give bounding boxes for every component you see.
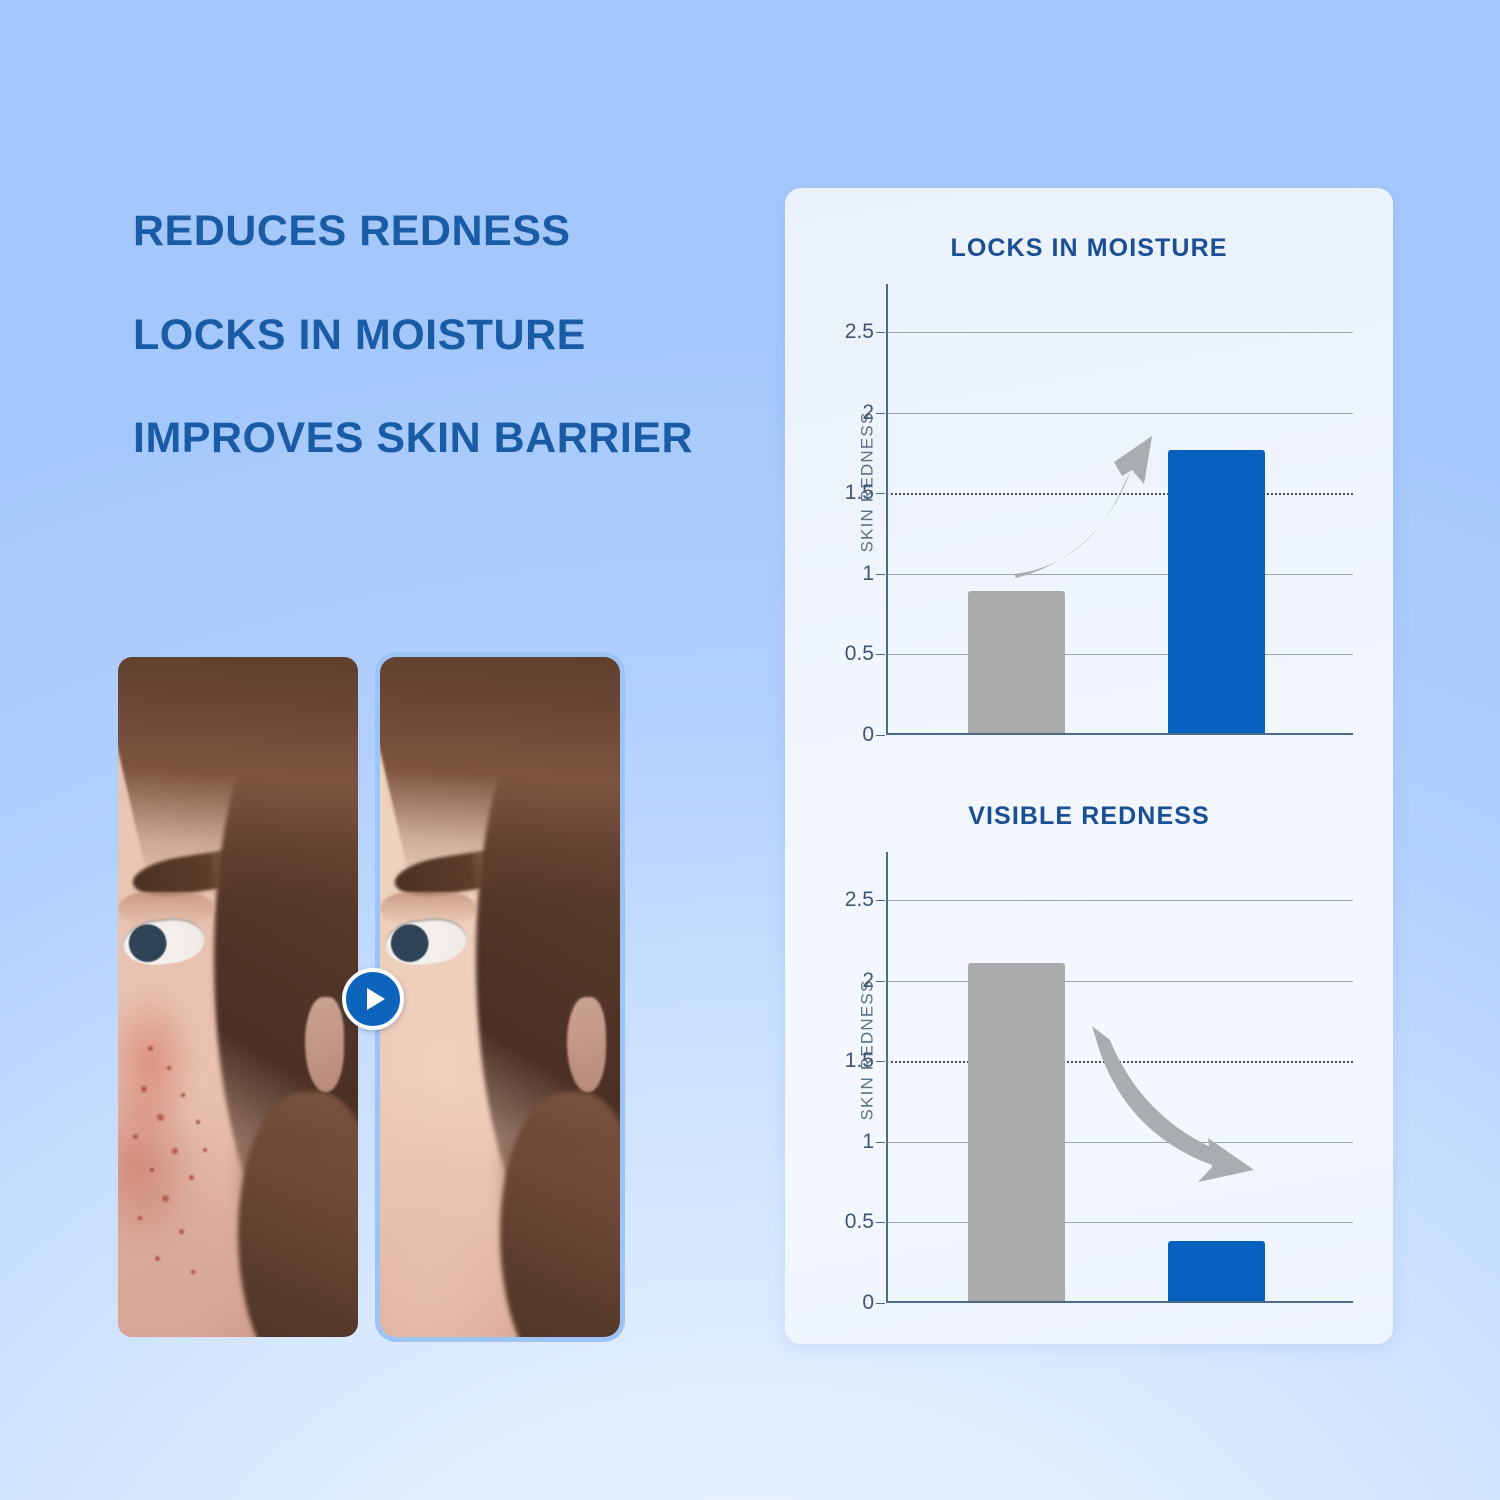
gridline xyxy=(886,1222,1353,1223)
gridline xyxy=(886,574,1353,575)
bar-before xyxy=(968,963,1065,1301)
y-tick-label: 2 xyxy=(862,401,874,425)
gridline xyxy=(886,413,1353,414)
tick-mark xyxy=(876,1303,885,1304)
trend-arrow-up xyxy=(886,284,1353,735)
chart-visible-redness: VISIBLE REDNESS SKIN REDNESS 0 0.5 1 xyxy=(785,770,1393,1330)
bar-before xyxy=(968,591,1065,733)
x-axis-line xyxy=(886,1301,1353,1303)
chart-locks-in-moisture: LOCKS IN MOISTURE SKIN REDNESS 0 0.5 1 xyxy=(785,202,1393,762)
gridline xyxy=(886,332,1353,333)
plot-area: 0 0.5 1 1.5 xyxy=(886,284,1353,735)
tick-mark xyxy=(876,1061,885,1062)
ear xyxy=(567,997,605,1092)
chart-title: LOCKS IN MOISTURE xyxy=(785,234,1393,263)
y-tick-label: 1.5 xyxy=(845,481,874,505)
tick-mark xyxy=(876,1222,885,1223)
infographic-canvas: REDUCES REDNESS LOCKS IN MOISTURE IMPROV… xyxy=(0,0,1500,1500)
gridline xyxy=(886,654,1353,655)
chart-title: VISIBLE REDNESS xyxy=(785,802,1393,831)
gridline xyxy=(886,981,1353,982)
y-tick-label: 0 xyxy=(862,723,874,747)
tick-mark xyxy=(876,574,885,575)
bar-after xyxy=(1168,1241,1265,1301)
plot-area: 0 0.5 1 1.5 xyxy=(886,852,1353,1303)
play-triangle-glyph xyxy=(367,988,385,1010)
charts-card: LOCKS IN MOISTURE SKIN REDNESS 0 0.5 1 xyxy=(785,188,1393,1344)
y-tick-label: 2.5 xyxy=(845,888,874,912)
reference-line xyxy=(886,493,1353,495)
y-tick-label: 1 xyxy=(862,562,874,586)
tick-mark xyxy=(876,735,885,736)
face-image-after xyxy=(380,657,620,1337)
play-icon[interactable] xyxy=(342,968,404,1030)
tick-mark xyxy=(876,981,885,982)
y-axis-line xyxy=(886,852,888,1303)
tick-mark xyxy=(876,493,885,494)
tick-mark xyxy=(876,900,885,901)
reference-line xyxy=(886,1061,1353,1063)
benefit-item-3: IMPROVES SKIN BARRIER xyxy=(133,413,733,464)
y-tick-label: 2 xyxy=(862,969,874,993)
tick-mark xyxy=(876,413,885,414)
y-tick-label: 1 xyxy=(862,1130,874,1154)
x-axis-line xyxy=(886,733,1353,735)
jaw-shadow xyxy=(500,1147,620,1337)
face-image-before xyxy=(118,657,358,1337)
y-tick-label: 2.5 xyxy=(845,320,874,344)
benefit-item-2: LOCKS IN MOISTURE xyxy=(133,310,733,361)
y-axis-line xyxy=(886,284,888,735)
tick-mark xyxy=(876,332,885,333)
tick-mark xyxy=(876,654,885,655)
benefits-list: REDUCES REDNESS LOCKS IN MOISTURE IMPROV… xyxy=(133,206,733,464)
jaw-shadow xyxy=(238,1147,358,1337)
y-tick-label: 1.5 xyxy=(845,1049,874,1073)
gridline xyxy=(886,1142,1353,1143)
y-tick-label: 0.5 xyxy=(845,1210,874,1234)
tick-mark xyxy=(876,1142,885,1143)
before-photo xyxy=(118,657,358,1337)
y-tick-label: 0 xyxy=(862,1291,874,1315)
benefit-item-1: REDUCES REDNESS xyxy=(133,206,733,257)
y-tick-label: 0.5 xyxy=(845,642,874,666)
after-photo xyxy=(380,657,620,1337)
gridline xyxy=(886,900,1353,901)
trend-arrow-down xyxy=(886,852,1353,1303)
bar-after xyxy=(1168,450,1265,733)
